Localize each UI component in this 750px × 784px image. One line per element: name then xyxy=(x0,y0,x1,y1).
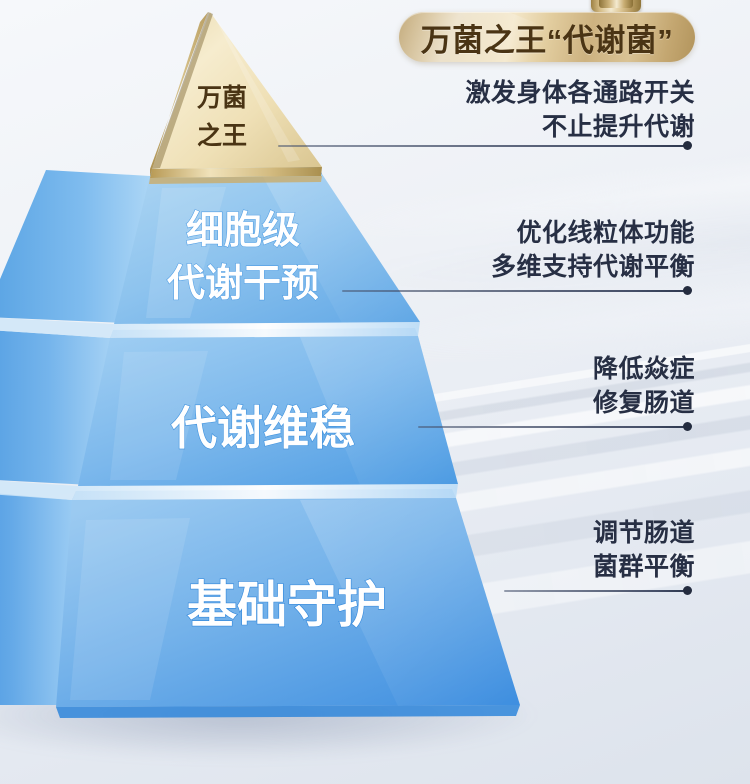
callout-4: 调节肠道 菌群平衡 xyxy=(593,516,695,584)
gold-cap-ornament-icon xyxy=(591,0,641,12)
poster-canvas: 万菌 之王 细胞级 代谢干预 代谢维稳 基础守护 万菌之王“代谢菌” 激发身体各… xyxy=(0,0,750,784)
leader-line-4 xyxy=(504,585,692,597)
callout-4-line1: 调节肠道 xyxy=(593,516,695,550)
leader-line-1-bar xyxy=(278,145,684,147)
callout-1-line2: 不止提升代谢 xyxy=(465,110,695,144)
callout-2: 优化线粒体功能 多维支持代谢平衡 xyxy=(491,216,695,284)
pyramid-level2-label-line1: 细胞级 xyxy=(186,210,300,252)
leader-line-4-bar xyxy=(504,590,684,592)
leader-line-2 xyxy=(342,285,692,297)
callout-4-line2: 菌群平衡 xyxy=(593,550,695,584)
leader-line-1-dot xyxy=(683,141,692,150)
leader-line-1 xyxy=(278,140,692,152)
leader-line-2-dot xyxy=(683,286,692,295)
pyramid-tip-label-line2: 之王 xyxy=(197,121,247,150)
callout-2-line2: 多维支持代谢平衡 xyxy=(491,250,695,284)
pyramid-seam-2-3 xyxy=(110,322,420,338)
callout-3-line2: 修复肠道 xyxy=(593,386,695,420)
pyramid-level2-label-line2: 代谢干预 xyxy=(167,263,319,305)
pyramid-seam-3-4 xyxy=(72,484,458,500)
callout-1-line1: 激发身体各通路开关 xyxy=(465,76,695,110)
headline-badge: 万菌之王“代谢菌” xyxy=(399,12,695,62)
callout-3-line1: 降低焱症 xyxy=(593,352,695,386)
pyramid-level4-label: 基础守护 xyxy=(187,577,387,633)
leader-line-3-dot xyxy=(683,422,692,431)
pyramid-level3-label: 代谢维稳 xyxy=(170,402,355,454)
callout-2-line1: 优化线粒体功能 xyxy=(491,216,695,250)
pyramid-tip-label-line1: 万菌 xyxy=(197,84,247,112)
leader-line-4-dot xyxy=(683,586,692,595)
headline-badge-label: 万菌之王“代谢菌” xyxy=(421,15,674,60)
leader-line-3 xyxy=(418,421,692,433)
callout-1: 激发身体各通路开关 不止提升代谢 xyxy=(465,76,695,144)
leader-line-3-bar xyxy=(418,426,684,428)
callout-3: 降低焱症 修复肠道 xyxy=(593,352,695,420)
leader-line-2-bar xyxy=(342,290,684,292)
